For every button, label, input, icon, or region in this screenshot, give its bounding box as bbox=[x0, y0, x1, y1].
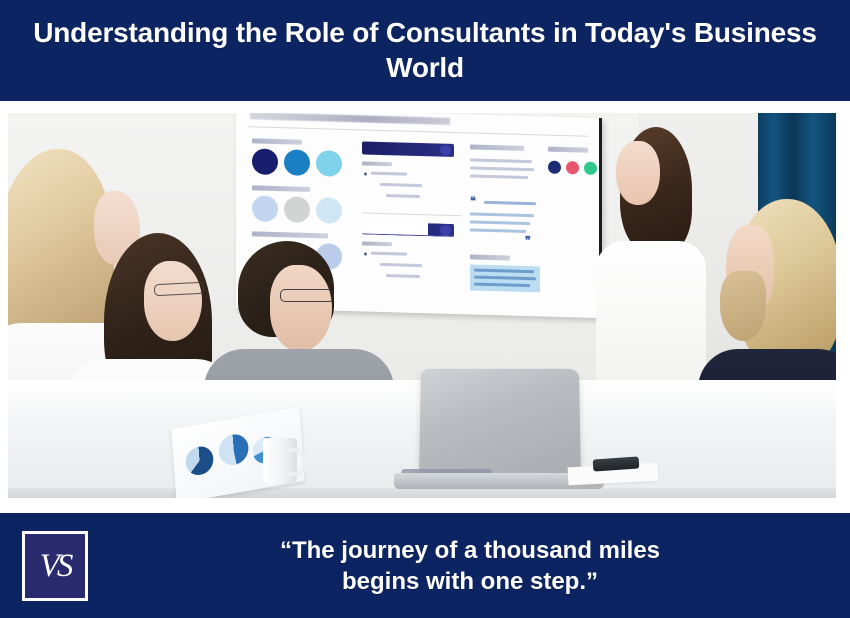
label-other-elements bbox=[548, 147, 588, 153]
label-additional-chart-color bbox=[252, 231, 328, 238]
quote-rule-top bbox=[484, 201, 536, 205]
coffee-mug bbox=[263, 438, 297, 484]
label-callout-quote-style bbox=[470, 144, 524, 151]
bullet-marker-1 bbox=[364, 172, 367, 175]
label-main-level-2 bbox=[362, 241, 392, 246]
bullet-text-6 bbox=[386, 274, 420, 278]
swatch-primary-2 bbox=[284, 149, 310, 176]
label-primary-color bbox=[252, 138, 302, 144]
header-chip-icon bbox=[440, 145, 451, 156]
face-presenter bbox=[616, 141, 660, 205]
bullet-text-1 bbox=[371, 172, 407, 176]
label-box-message bbox=[470, 254, 510, 260]
swatch-background-1 bbox=[252, 195, 278, 222]
table-edge bbox=[8, 488, 836, 498]
quote-text-1 bbox=[470, 212, 534, 217]
slide: Understanding the Role of Consultants in… bbox=[0, 0, 850, 618]
slide-title-text bbox=[250, 113, 450, 125]
slide-title-rule bbox=[248, 126, 588, 136]
footer-quote: “The journey of a thousand miles begins … bbox=[120, 535, 820, 597]
footer-banner: VS “The journey of a thousand miles begi… bbox=[0, 513, 850, 618]
swatch-primary-3 bbox=[316, 150, 342, 177]
laptop-screen-back bbox=[419, 369, 581, 481]
header-banner: Understanding the Role of Consultants in… bbox=[0, 0, 850, 101]
beard bbox=[720, 271, 766, 341]
logo: VS bbox=[22, 531, 88, 601]
open-quote-icon: ❝ bbox=[470, 194, 476, 207]
bullet-text-3 bbox=[386, 194, 420, 198]
quote-text-3 bbox=[470, 228, 526, 233]
meeting-photo: ❝ ❞ bbox=[8, 113, 836, 498]
alt-header-chip-icon bbox=[440, 225, 451, 236]
donut-chart-1 bbox=[185, 444, 215, 477]
donut-chart-2 bbox=[218, 432, 250, 467]
bullet-text-4 bbox=[371, 252, 407, 256]
section-divider bbox=[362, 212, 462, 216]
callout-text-2 bbox=[470, 166, 534, 171]
bullet-marker-2 bbox=[364, 252, 367, 255]
callout-text-1 bbox=[470, 158, 532, 163]
swatch-background-2 bbox=[284, 196, 310, 223]
logo-monogram: VS bbox=[40, 550, 71, 583]
footer-quote-line-2: begins with one step.” bbox=[120, 566, 820, 597]
footer-quote-line-1: “The journey of a thousand miles bbox=[120, 535, 820, 566]
label-main-level-1 bbox=[362, 161, 392, 166]
label-background-color bbox=[252, 185, 310, 192]
face-man-grey bbox=[270, 265, 332, 351]
bullet-text-5 bbox=[380, 263, 422, 267]
swatch-background-3 bbox=[316, 197, 342, 224]
face-woman-glasses bbox=[144, 261, 202, 341]
swatch-primary-1 bbox=[252, 148, 278, 175]
page-title: Understanding the Role of Consultants in… bbox=[30, 16, 820, 85]
close-quote-icon: ❞ bbox=[525, 234, 531, 247]
quote-text-2 bbox=[470, 220, 530, 225]
bullet-text-2 bbox=[380, 183, 422, 187]
glasses-man-icon bbox=[280, 289, 334, 302]
other-element-icon-navy bbox=[548, 161, 561, 174]
photo-illustration: ❝ ❞ bbox=[8, 113, 836, 498]
other-element-icon-green bbox=[584, 162, 597, 175]
other-element-icon-red bbox=[566, 161, 579, 174]
callout-text-3 bbox=[470, 174, 528, 179]
